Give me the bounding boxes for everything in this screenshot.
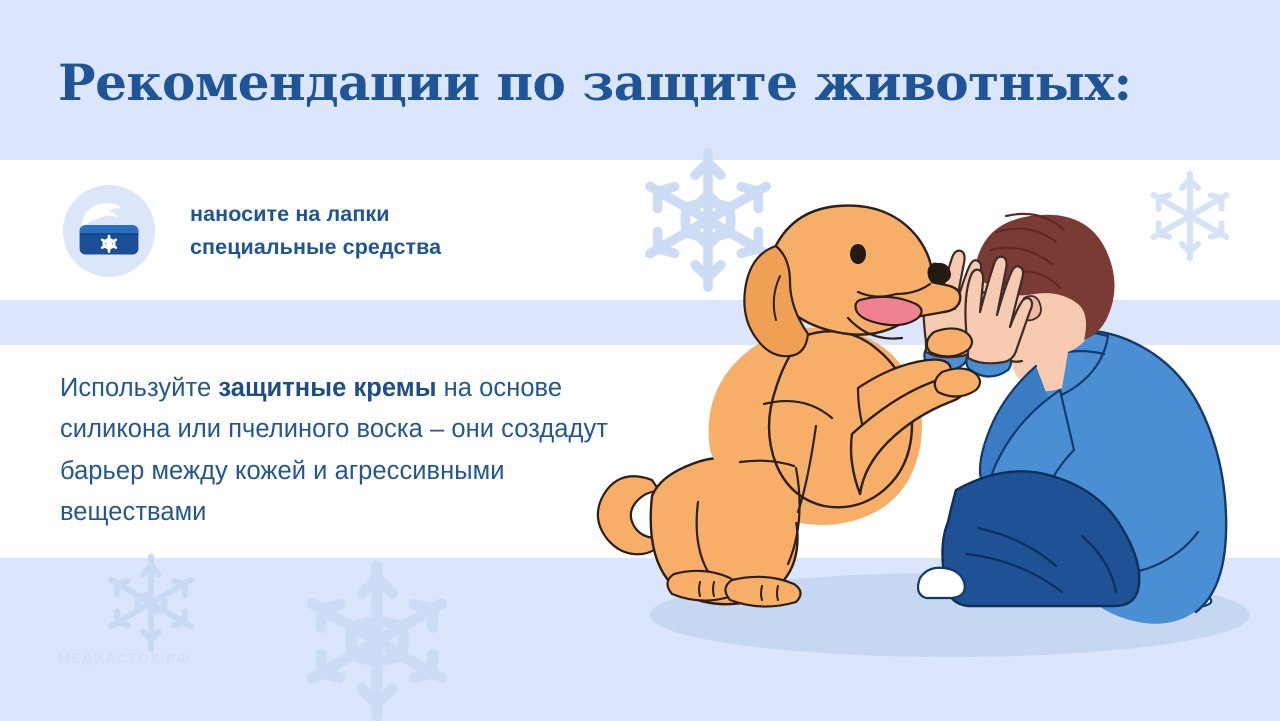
- dog-paw-upper: [927, 328, 972, 356]
- body-paragraph: Используйте защитные кремы на основе сил…: [60, 368, 630, 533]
- page-title: Рекомендации по защите животных:: [58, 58, 1132, 108]
- tip-row: наносите на лапки специальные средства: [60, 182, 441, 280]
- snowflake-bottom-center-icon: [292, 556, 462, 721]
- tip-caption-line-2: специальные средства: [190, 231, 441, 264]
- body-text-lead: Используйте: [60, 374, 218, 402]
- watermark: МЕДИАСТОК.РФ: [58, 650, 190, 666]
- tip-caption-line-1: наносите на лапки: [190, 198, 441, 231]
- snowflake-bottom-left-icon: [96, 548, 206, 658]
- cream-jar-snowflake-icon: [60, 182, 158, 280]
- dog-nose: [928, 263, 952, 284]
- dog-paw-lower: [935, 368, 980, 396]
- tip-caption: наносите на лапки специальные средства: [190, 198, 441, 265]
- dog-high-five-with-man-illustration: [590, 150, 1280, 680]
- dog-eye: [850, 244, 866, 264]
- infographic-poster: Рекомендации по защите животных:: [0, 0, 1280, 721]
- man-shoe-front: [918, 568, 965, 598]
- dog-hind-paw-right: [725, 577, 800, 607]
- body-text-emphasis: защитные кремы: [218, 374, 436, 402]
